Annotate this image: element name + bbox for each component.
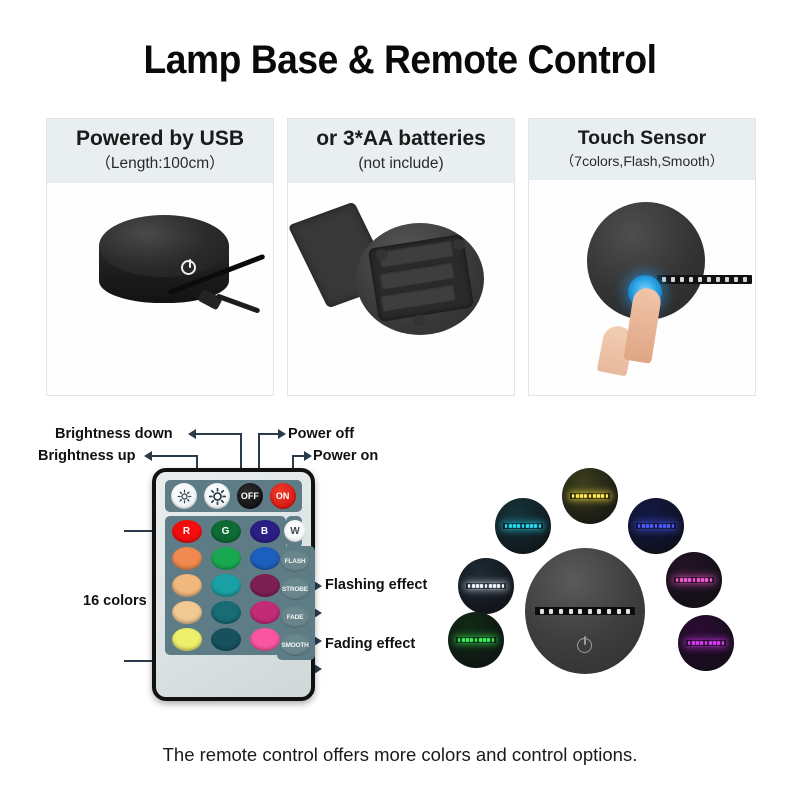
led (617, 609, 621, 614)
led (684, 578, 687, 582)
feature-panels: Powered by USB （Length:100cm） or 3*AA ba… (46, 118, 756, 396)
lamp-color-cluster (440, 460, 760, 700)
led (696, 641, 699, 645)
led (642, 524, 645, 528)
led (710, 578, 713, 582)
led (466, 638, 469, 642)
led (530, 524, 533, 528)
led (534, 524, 537, 528)
led (489, 584, 492, 588)
led (705, 641, 708, 645)
sun-large-icon (209, 488, 226, 505)
led (483, 638, 486, 642)
led (717, 641, 720, 645)
remote-top-row: OFF ON (165, 480, 302, 512)
leader-line (240, 433, 242, 473)
led (493, 584, 496, 588)
led (688, 578, 691, 582)
page-title: Lamp Base & Remote Control (28, 38, 772, 83)
leader-line (152, 455, 198, 457)
led (584, 494, 587, 498)
arrow-left-icon (188, 429, 196, 439)
led-strip (466, 583, 506, 589)
led (734, 277, 738, 282)
led (680, 578, 683, 582)
brightness-down-button[interactable] (171, 483, 197, 509)
led (485, 584, 488, 588)
usb-cable (216, 293, 261, 313)
led (597, 494, 600, 498)
led (705, 578, 708, 582)
led-strip (657, 275, 752, 284)
arrow-right-icon (314, 664, 322, 674)
led (549, 609, 553, 614)
led (689, 277, 693, 282)
led (707, 277, 711, 282)
led (676, 578, 679, 582)
power-off-button[interactable]: OFF (237, 483, 263, 509)
led (659, 524, 662, 528)
led (588, 609, 592, 614)
led (722, 641, 725, 645)
color-button[interactable] (250, 547, 280, 570)
callout-power-on: Power on (313, 448, 378, 464)
led (472, 584, 475, 588)
effect-button-strobe[interactable]: STROBE (280, 578, 310, 600)
led (505, 524, 508, 528)
led (743, 277, 747, 282)
led (701, 578, 704, 582)
led-strip-center (535, 607, 635, 615)
lamp-mini-purple (678, 615, 734, 671)
panel-aa-batteries: or 3*AA batteries (not include) (287, 118, 515, 396)
led (497, 584, 500, 588)
callout-brightness-down: Brightness down (55, 426, 173, 442)
arrow-right-icon (304, 451, 312, 461)
led-strip (674, 577, 714, 583)
lamp-base-usb-photo (47, 183, 273, 395)
lamp-mini-yellow (562, 468, 618, 524)
leader-line (258, 433, 280, 435)
power-on-button[interactable]: ON (270, 483, 296, 509)
panel-heading: Powered by USB (51, 127, 269, 151)
led (672, 524, 675, 528)
color-button[interactable] (211, 574, 241, 597)
led (601, 494, 604, 498)
color-button-r[interactable]: R (172, 520, 202, 543)
panel-subheading: (not include) (292, 155, 510, 173)
led (480, 584, 483, 588)
arrow-right-icon (314, 581, 322, 591)
led (462, 638, 465, 642)
lamp-mini-green (448, 612, 504, 668)
led (540, 609, 544, 614)
color-button[interactable] (211, 628, 241, 651)
led-strip (570, 493, 610, 499)
led (479, 638, 482, 642)
led (607, 609, 611, 614)
panel-powered-by-usb: Powered by USB （Length:100cm） (46, 118, 274, 396)
callout-fading-effect: Fading effect (325, 636, 415, 652)
led (509, 524, 512, 528)
color-button-grid: RGB (168, 519, 283, 652)
remote-control: OFF ON RGB W FLASHSTROBEFADESMOOTH (152, 468, 315, 701)
led (526, 524, 529, 528)
arrow-left-icon (144, 451, 152, 461)
sun-small-icon (177, 489, 192, 504)
led (693, 578, 696, 582)
screw-hole (376, 249, 388, 260)
led (716, 277, 720, 282)
led (709, 641, 712, 645)
effect-button-fade[interactable]: FADE (280, 606, 310, 628)
panel-heading: or 3*AA batteries (292, 127, 510, 151)
led (502, 584, 505, 588)
color-button[interactable] (211, 601, 241, 624)
color-button[interactable] (211, 547, 241, 570)
effect-button-smooth[interactable]: SMOOTH (280, 634, 310, 656)
screw-hole (453, 239, 465, 250)
led (663, 524, 666, 528)
panel-header-battery: or 3*AA batteries (not include) (288, 119, 514, 183)
led (569, 609, 573, 614)
led (468, 584, 471, 588)
color-button[interactable] (172, 574, 202, 597)
leader-line (196, 433, 242, 435)
lamp-mini-white (458, 558, 514, 614)
led (646, 524, 649, 528)
leader-line (258, 433, 260, 473)
led-strip (686, 640, 726, 646)
color-button[interactable] (250, 601, 280, 624)
panel-subheading: （7colors,Flash,Smooth） (533, 153, 751, 169)
color-button[interactable] (172, 547, 202, 570)
color-button[interactable] (250, 628, 280, 651)
infographic-root: Lamp Base & Remote Control Powered by US… (0, 0, 800, 800)
led (662, 277, 666, 282)
led (476, 584, 479, 588)
lamp-base-touch-photo (529, 180, 755, 395)
arrow-right-icon (314, 636, 322, 646)
panel-heading: Touch Sensor (533, 127, 751, 149)
lamp-mini-magenta (666, 552, 722, 608)
led (650, 524, 653, 528)
brightness-up-button[interactable] (204, 483, 230, 509)
effect-button-flash[interactable]: FLASH (280, 550, 310, 572)
callout-brightness-up: Brightness up (38, 448, 135, 464)
led (597, 609, 601, 614)
led (655, 524, 658, 528)
arrow-right-icon (314, 608, 322, 618)
color-button[interactable] (172, 628, 202, 651)
lamp-base-battery-photo (288, 183, 514, 395)
led (626, 609, 630, 614)
callout-flashing-effect: Flashing effect (325, 577, 427, 593)
screw-hole (413, 315, 425, 326)
power-icon (577, 638, 592, 653)
led (692, 641, 695, 645)
lamp-mini-blue (628, 498, 684, 554)
led (458, 638, 461, 642)
color-button[interactable] (250, 574, 280, 597)
led (539, 524, 542, 528)
effect-button-column: FLASHSTROBEFADESMOOTH (280, 550, 312, 656)
led (559, 609, 563, 614)
led (671, 277, 675, 282)
led (470, 638, 473, 642)
led (667, 524, 670, 528)
power-icon (181, 260, 196, 275)
led (475, 638, 478, 642)
callout-16-colors: 16 colors (83, 593, 147, 609)
led (725, 277, 729, 282)
arrow-right-icon (278, 429, 286, 439)
led (698, 277, 702, 282)
panel-header-usb: Powered by USB （Length:100cm） (47, 119, 273, 183)
led (680, 277, 684, 282)
led (517, 524, 520, 528)
base-top (99, 215, 229, 277)
led-strip (503, 523, 543, 529)
led (492, 638, 495, 642)
led (593, 494, 596, 498)
led (572, 494, 575, 498)
color-button-g[interactable]: G (211, 520, 241, 543)
callout-power-off: Power off (288, 426, 354, 442)
led (576, 494, 579, 498)
led (578, 609, 582, 614)
led (522, 524, 525, 528)
panel-header-touch: Touch Sensor （7colors,Flash,Smooth） (529, 119, 755, 180)
led (697, 578, 700, 582)
white-color-button[interactable]: W (284, 520, 306, 542)
color-button[interactable] (172, 601, 202, 624)
led-strip (636, 523, 676, 529)
led (513, 524, 516, 528)
led-strip (456, 637, 496, 643)
led (487, 638, 490, 642)
led (638, 524, 641, 528)
led (688, 641, 691, 645)
bottom-caption: The remote control offers more colors an… (0, 744, 800, 766)
led (713, 641, 716, 645)
led (580, 494, 583, 498)
color-button-b[interactable]: B (250, 520, 280, 543)
panel-subheading: （Length:100cm） (51, 155, 269, 173)
led (606, 494, 609, 498)
led (589, 494, 592, 498)
led (700, 641, 703, 645)
lamp-mini-cyan (495, 498, 551, 554)
panel-touch-sensor: Touch Sensor （7colors,Flash,Smooth） (528, 118, 756, 396)
